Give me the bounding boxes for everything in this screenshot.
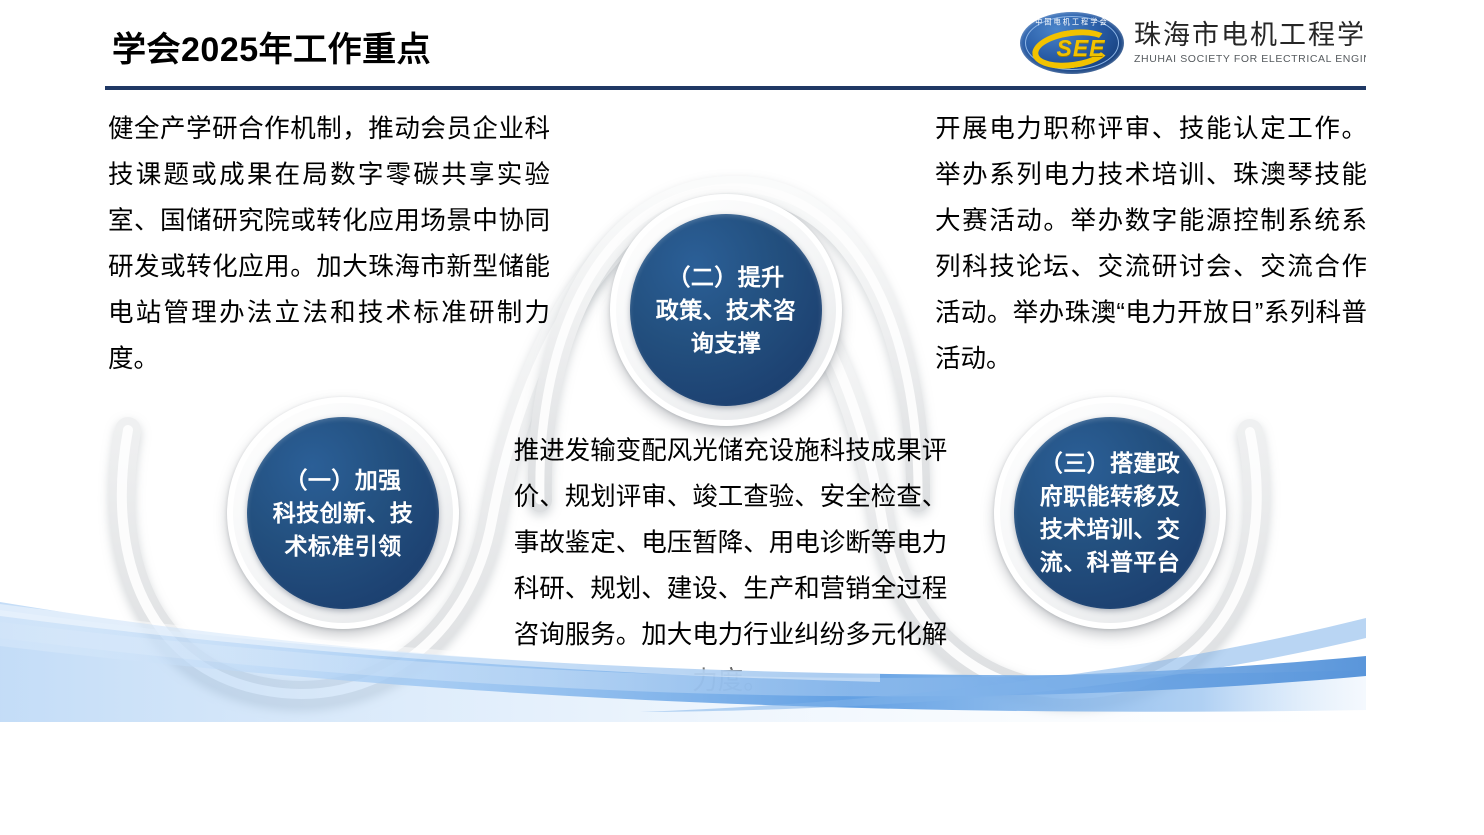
node-label-2: （二）提升 政策、技术咨 询支撑: [646, 261, 806, 360]
page-title: 学会2025年工作重点: [112, 22, 431, 71]
text-block-left: 健全产学研合作机制，推动会员企业科技课题或成果在局数字零碳共享实验室、国储研究院…: [108, 106, 550, 382]
node-circle-2[interactable]: （二）提升 政策、技术咨 询支撑: [610, 194, 842, 426]
slide-root: 学会2025年工作重点 中国电机工程学会 SEE 珠海市电机工程学会 ZHUHA…: [0, 0, 1484, 835]
node-label-1: （一）加强 科技创新、技 术标准引领: [263, 464, 423, 563]
text-block-center: 推进发输变配风光储充设施科技成果评价、规划评审、竣工查验、安全检查、事故鉴定、电…: [508, 428, 953, 704]
slide-canvas: 学会2025年工作重点 中国电机工程学会 SEE 珠海市电机工程学会 ZHUHA…: [0, 0, 1366, 722]
node-disc: （三）搭建政 府职能转移及 技术培训、交 流、科普平台: [1014, 417, 1206, 609]
node-disc: （一）加强 科技创新、技 术标准引领: [247, 417, 439, 609]
title-underline-rule: [105, 86, 1366, 90]
see-emblem-icon: 中国电机工程学会 SEE: [1020, 12, 1124, 74]
org-name-english: ZHUHAI SOCIETY FOR ELECTRICAL ENGINEERIN…: [1134, 53, 1366, 65]
org-name-chinese: 珠海市电机工程学会: [1134, 21, 1366, 51]
node-circle-1[interactable]: （一）加强 科技创新、技 术标准引领: [227, 397, 459, 629]
society-logo: 中国电机工程学会 SEE 珠海市电机工程学会 ZHUHAI SOCIETY FO…: [1020, 12, 1366, 74]
node-label-3: （三）搭建政 府职能转移及 技术培训、交 流、科普平台: [1030, 447, 1190, 579]
text-block-right: 开展电力职称评审、技能认定工作。举办系列电力技术培训、珠澳琴技能大赛活动。举办数…: [935, 106, 1366, 382]
logo-text-group: 珠海市电机工程学会 ZHUHAI SOCIETY FOR ELECTRICAL …: [1134, 21, 1366, 66]
node-circle-3[interactable]: （三）搭建政 府职能转移及 技术培训、交 流、科普平台: [994, 397, 1226, 629]
logo-see-letters: SEE: [1050, 34, 1112, 62]
logo-arc-text: 中国电机工程学会: [1020, 16, 1124, 28]
node-disc: （二）提升 政策、技术咨 询支撑: [630, 214, 822, 406]
